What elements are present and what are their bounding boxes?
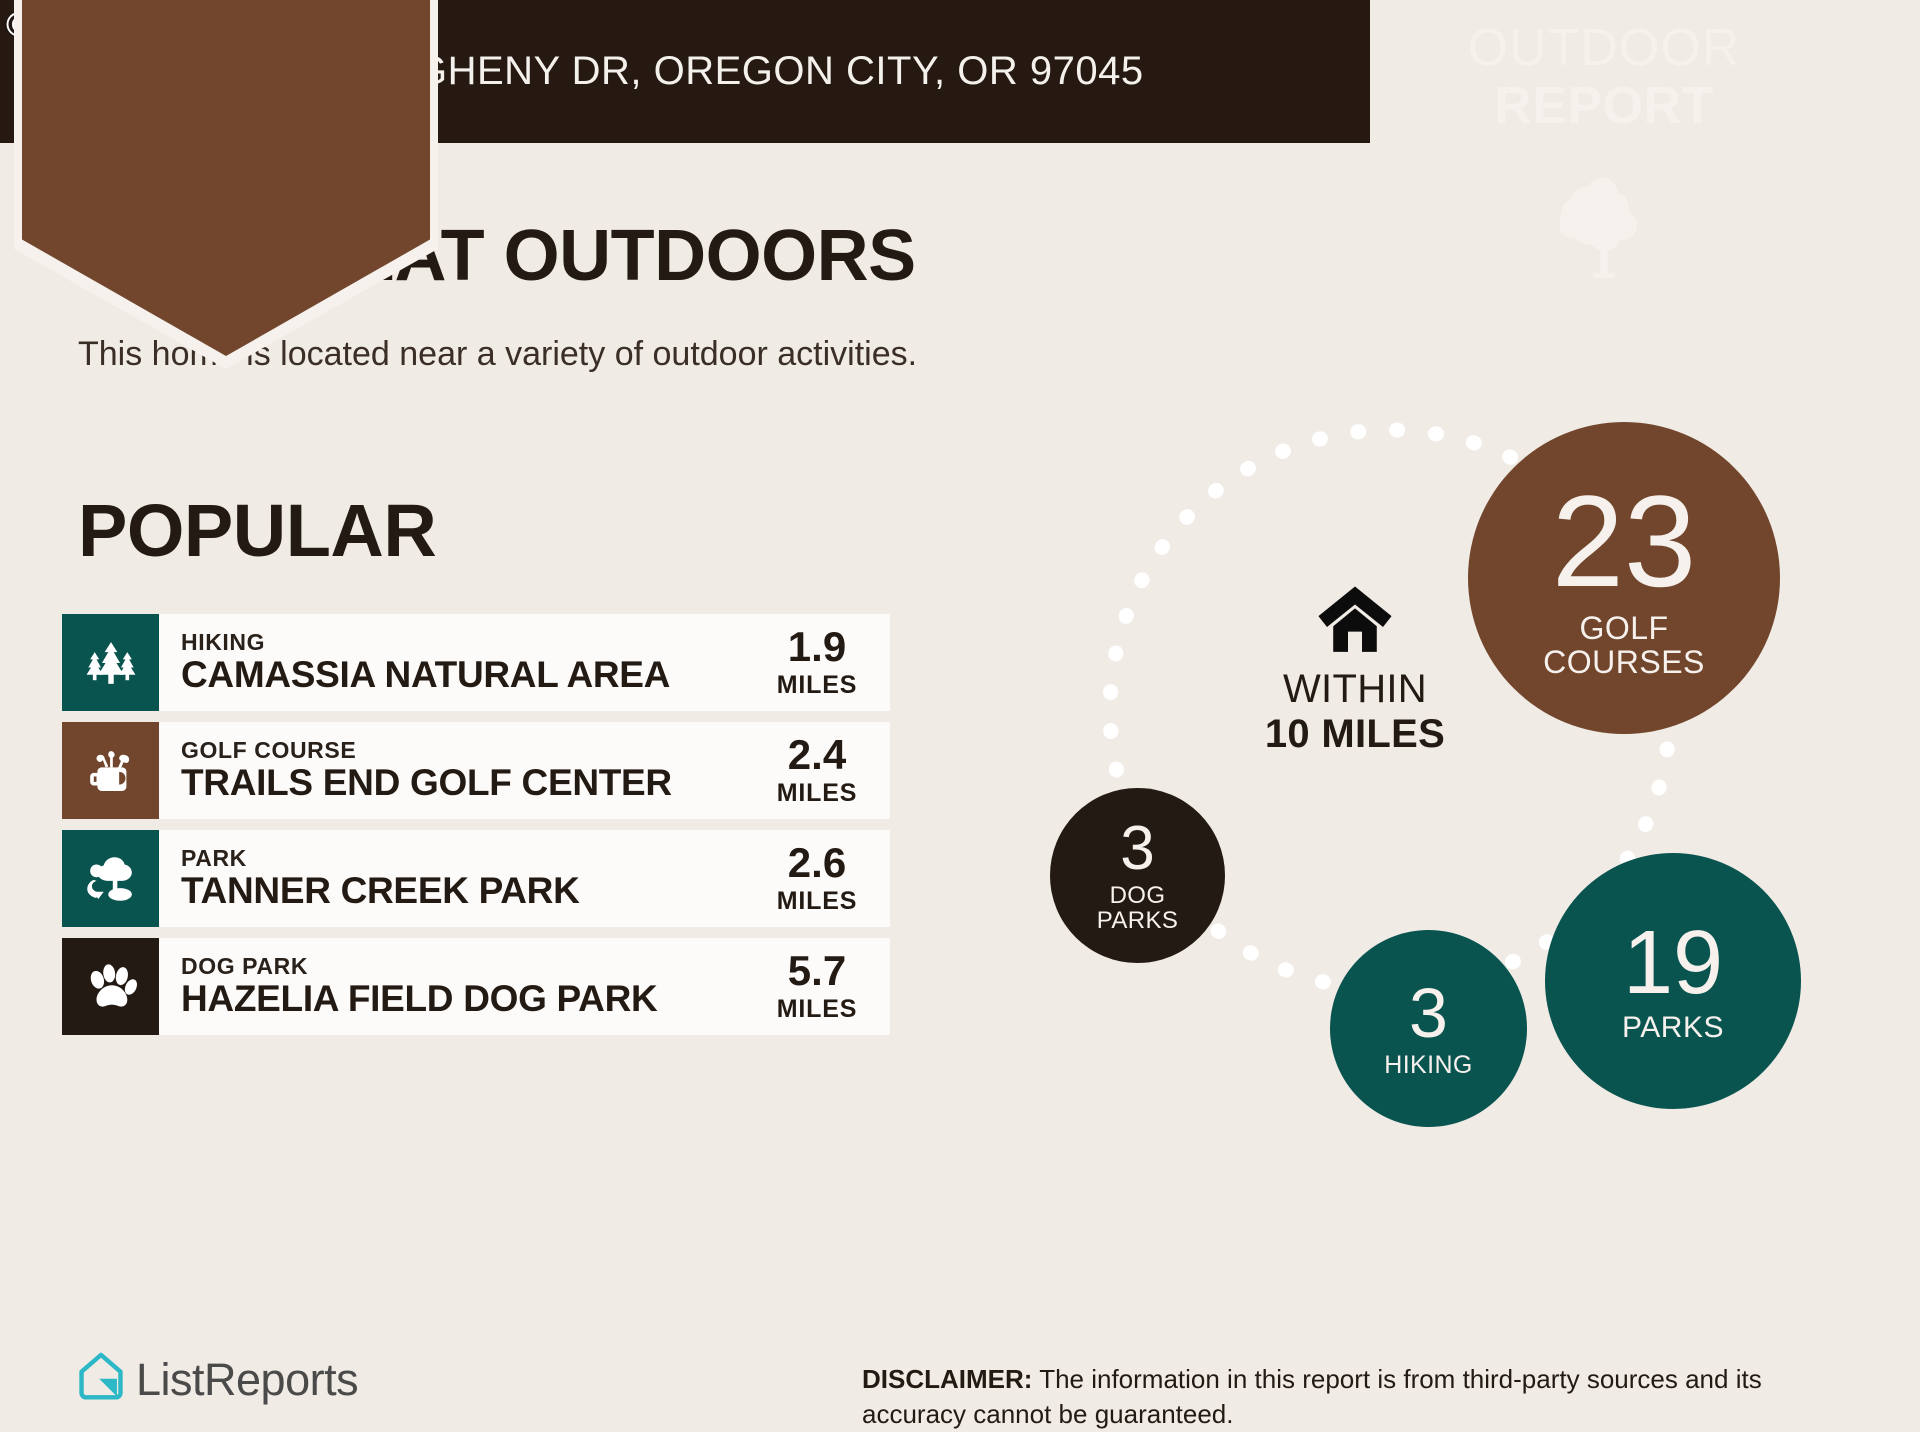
listreports-wordmark: ListReports xyxy=(136,1354,358,1406)
bubble-label-line2: PARKS xyxy=(1097,908,1179,933)
list-item[interactable]: HIKING CAMASSIA NATURAL AREA 1.9 MILES xyxy=(62,614,890,711)
list-item-text: GOLF COURSE TRAILS END GOLF CENTER xyxy=(159,722,758,819)
listreports-house-icon xyxy=(78,1352,136,1407)
distance-value: 5.7 xyxy=(788,950,846,992)
report-badge xyxy=(22,0,430,356)
distance-unit: MILES xyxy=(777,887,857,916)
distance-value: 1.9 xyxy=(788,626,846,668)
bubble-golf-courses[interactable]: 23 GOLF COURSES xyxy=(1468,422,1780,734)
list-item-text: HIKING CAMASSIA NATURAL AREA xyxy=(159,614,758,711)
park-tree-path-icon xyxy=(62,830,159,927)
tree-icon xyxy=(1560,172,1648,282)
list-item-distance: 2.6 MILES xyxy=(758,830,890,927)
center-line-1: WITHIN xyxy=(1215,667,1495,711)
distance-value: 2.4 xyxy=(788,734,846,776)
distance-unit: MILES xyxy=(777,995,857,1024)
bubble-parks[interactable]: 19 PARKS xyxy=(1545,853,1801,1109)
bubble-label-line1: DOG xyxy=(1110,883,1166,908)
bubble-dog-parks[interactable]: 3 DOG PARKS xyxy=(1050,788,1225,963)
list-item[interactable]: DOG PARK HAZELIA FIELD DOG PARK 5.7 MILE… xyxy=(62,938,890,1035)
badge-line-2: REPORT xyxy=(1378,80,1830,132)
badge-line-1: OUTDOOR xyxy=(1468,19,1741,77)
list-item-name: TRAILS END GOLF CENTER xyxy=(181,763,758,804)
listreports-logo[interactable]: ListReports xyxy=(78,1352,358,1407)
home-icon xyxy=(1316,585,1394,655)
bubble-value: 3 xyxy=(1409,978,1448,1048)
list-item-name: TANNER CREEK PARK xyxy=(181,871,758,912)
list-item[interactable]: PARK TANNER CREEK PARK 2.6 MILES xyxy=(62,830,890,927)
popular-list: HIKING CAMASSIA NATURAL AREA 1.9 MILES G… xyxy=(62,614,890,1046)
list-item-name: CAMASSIA NATURAL AREA xyxy=(181,655,758,696)
list-item-category: HIKING xyxy=(181,629,758,655)
bubble-label-line1: PARKS xyxy=(1622,1012,1724,1044)
list-item-distance: 2.4 MILES xyxy=(758,722,890,819)
list-item-text: DOG PARK HAZELIA FIELD DOG PARK xyxy=(159,938,758,1035)
diagram-center-label: WITHIN 10 MILES xyxy=(1215,585,1495,757)
disclaimer: DISCLAIMER: The information in this repo… xyxy=(862,1362,1872,1432)
list-item-distance: 1.9 MILES xyxy=(758,614,890,711)
list-item-text: PARK TANNER CREEK PARK xyxy=(159,830,758,927)
bubble-label-line1: HIKING xyxy=(1384,1052,1473,1078)
pine-trees-icon xyxy=(62,614,159,711)
golf-bag-icon xyxy=(62,722,159,819)
list-item[interactable]: GOLF COURSE TRAILS END GOLF CENTER 2.4 M… xyxy=(62,722,890,819)
bubble-label-line1: GOLF xyxy=(1579,612,1668,646)
list-item-distance: 5.7 MILES xyxy=(758,938,890,1035)
report-badge-text: OUTDOOR REPORT xyxy=(1378,22,1830,132)
distance-value: 2.6 xyxy=(788,842,846,884)
paw-print-icon xyxy=(62,938,159,1035)
list-item-category: GOLF COURSE xyxy=(181,737,758,763)
distance-unit: MILES xyxy=(777,779,857,808)
list-item-name: HAZELIA FIELD DOG PARK xyxy=(181,979,758,1020)
list-item-category: DOG PARK xyxy=(181,953,758,979)
bubble-value: 19 xyxy=(1623,918,1723,1008)
list-item-category: PARK xyxy=(181,845,758,871)
disclaimer-label: DISCLAIMER: xyxy=(862,1364,1032,1394)
center-line-2: 10 MILES xyxy=(1215,711,1495,757)
bubble-value: 23 xyxy=(1552,476,1697,606)
bubble-value: 3 xyxy=(1120,818,1154,880)
bubble-label-line2: COURSES xyxy=(1543,646,1705,680)
amenities-bubble-diagram: 23 GOLF COURSES 19 PARKS 3 HIKING 3 DOG … xyxy=(1020,410,1890,1060)
popular-heading: POPULAR xyxy=(78,488,436,573)
distance-unit: MILES xyxy=(777,671,857,700)
bubble-hiking[interactable]: 3 HIKING xyxy=(1330,930,1527,1127)
